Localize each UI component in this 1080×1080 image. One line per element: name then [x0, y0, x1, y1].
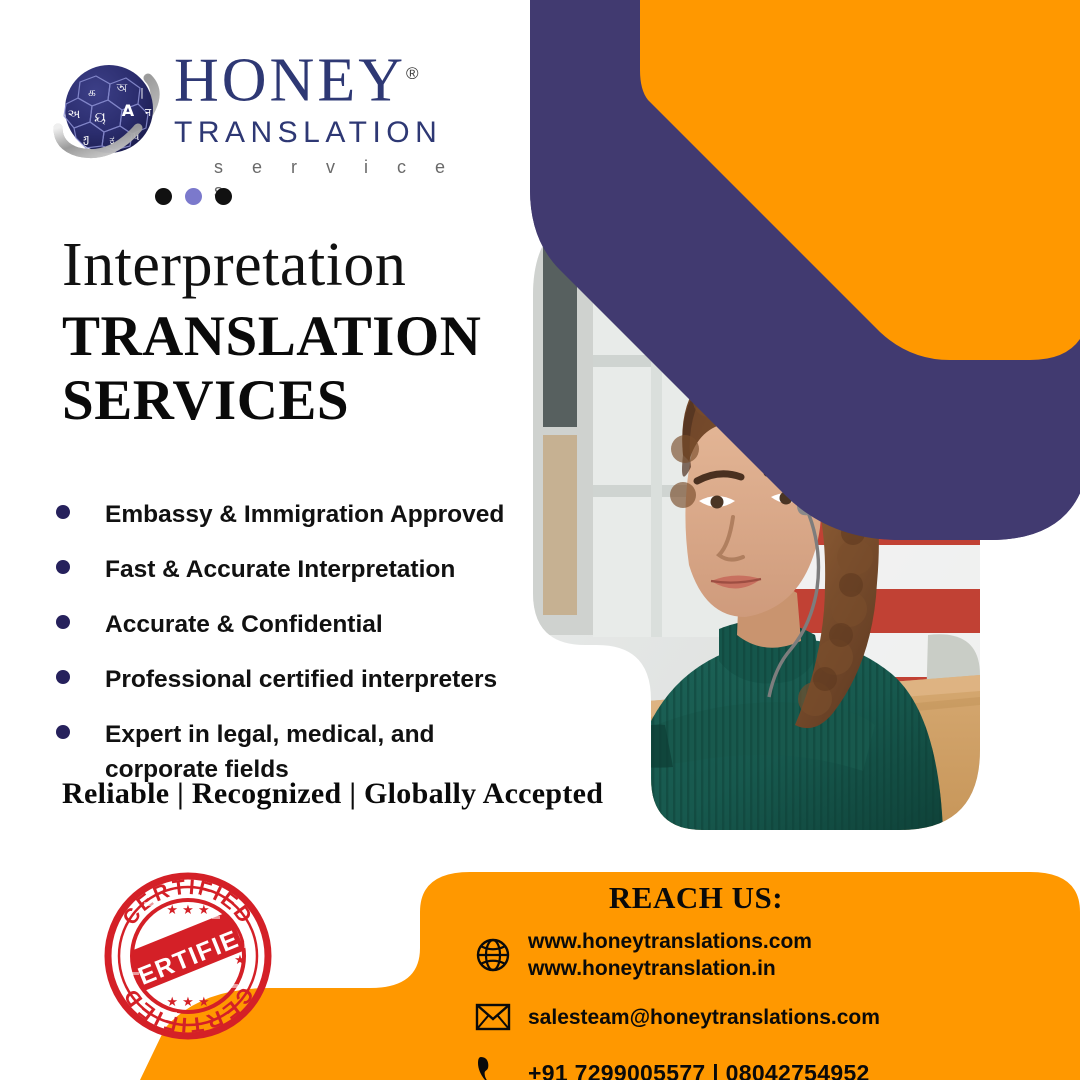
list-item: Embassy & Immigration Approved — [56, 497, 526, 532]
svg-text:न: न — [145, 106, 152, 119]
contact-row-website[interactable]: www.honeytranslations.com www.honeytrans… — [470, 928, 1070, 982]
svg-text:অ: অ — [116, 81, 128, 95]
list-item: Accurate & Confidential — [56, 607, 526, 642]
logo-wordmark: HONEY® TRANSLATION s e r v i c e s — [174, 42, 472, 203]
globe-languages-icon: க অ | અ ୟ A न ჟ ಕ પ — [52, 56, 170, 166]
logo-dot-3 — [215, 188, 232, 205]
hero-photo — [533, 205, 980, 830]
interpreter-photo-image — [533, 205, 980, 830]
contact-heading: REACH US: — [470, 880, 922, 916]
svg-text:ୟ: ୟ — [94, 110, 106, 126]
svg-text:|: | — [140, 86, 144, 99]
list-item-label: Embassy & Immigration Approved — [105, 497, 504, 532]
feature-list: Embassy & Immigration Approved Fast & Ac… — [56, 497, 526, 807]
website-link-2[interactable]: www.honeytranslation.in — [528, 957, 776, 980]
bullet-dot-icon — [56, 670, 70, 684]
contact-row-email[interactable]: salesteam@honeytranslations.com — [470, 996, 1070, 1038]
logo-line-services: s e r v i c e s — [214, 155, 472, 203]
phone-icon — [470, 1052, 516, 1080]
list-item-label: Fast & Accurate Interpretation — [105, 552, 455, 587]
headline-bold-lines: TRANSLATION SERVICES — [62, 305, 532, 433]
envelope-icon — [470, 996, 516, 1038]
bullet-dot-icon — [56, 505, 70, 519]
contact-section: REACH US: www.honeytranslations.com www.… — [470, 880, 1070, 1080]
list-item: Fast & Accurate Interpretation — [56, 552, 526, 587]
headline-line-services: SERVICES — [62, 369, 532, 433]
page-title: Interpretation TRANSLATION SERVICES — [62, 232, 532, 433]
brand-logo: க অ | અ ୟ A न ჟ ಕ પ HONEY® TRANSLATION s… — [52, 42, 472, 202]
logo-dots — [155, 188, 232, 205]
phone-numbers[interactable]: +91 7299005577 | 08042754952 — [528, 1060, 870, 1080]
logo-brand-name: HONEY® — [174, 42, 419, 113]
svg-text:અ: અ — [68, 107, 81, 121]
svg-text:★ ★ ★: ★ ★ ★ — [166, 995, 209, 1010]
email-address[interactable]: salesteam@honeytranslations.com — [528, 1004, 880, 1031]
svg-text:A: A — [122, 101, 135, 120]
list-item: Professional certified interpreters — [56, 662, 526, 697]
bullet-dot-icon — [56, 560, 70, 574]
bullet-dot-icon — [56, 615, 70, 629]
svg-text:க: க — [88, 85, 96, 99]
list-item-label: Accurate & Confidential — [105, 607, 383, 642]
svg-text:ჟ: ჟ — [83, 131, 89, 145]
svg-text:★: ★ — [234, 953, 246, 968]
certified-stamp-icon: ★ ★ ★ ★ ★ ★ ★ ★ CERTIFIED CERTIFIED CERT… — [104, 872, 272, 1040]
globe-icon — [470, 934, 516, 976]
headline-line-translation: TRANSLATION — [62, 305, 532, 369]
logo-dot-2 — [185, 188, 202, 205]
logo-dot-1 — [155, 188, 172, 205]
list-item-label: Professional certified interpreters — [105, 662, 497, 697]
poster-canvas: க অ | અ ୟ A न ჟ ಕ પ HONEY® TRANSLATION s… — [0, 0, 1080, 1080]
headline-script-line: Interpretation — [62, 232, 532, 298]
registered-mark: ® — [406, 64, 419, 83]
website-links[interactable]: www.honeytranslations.com www.honeytrans… — [528, 928, 812, 982]
bullet-dot-icon — [56, 725, 70, 739]
contact-row-phone[interactable]: +91 7299005577 | 08042754952 — [470, 1052, 1070, 1080]
tagline: Reliable | Recognized | Globally Accepte… — [62, 777, 603, 811]
svg-text:★ ★ ★: ★ ★ ★ — [166, 903, 209, 918]
website-link-1[interactable]: www.honeytranslations.com — [528, 930, 812, 953]
logo-line-translation: TRANSLATION — [174, 115, 472, 151]
